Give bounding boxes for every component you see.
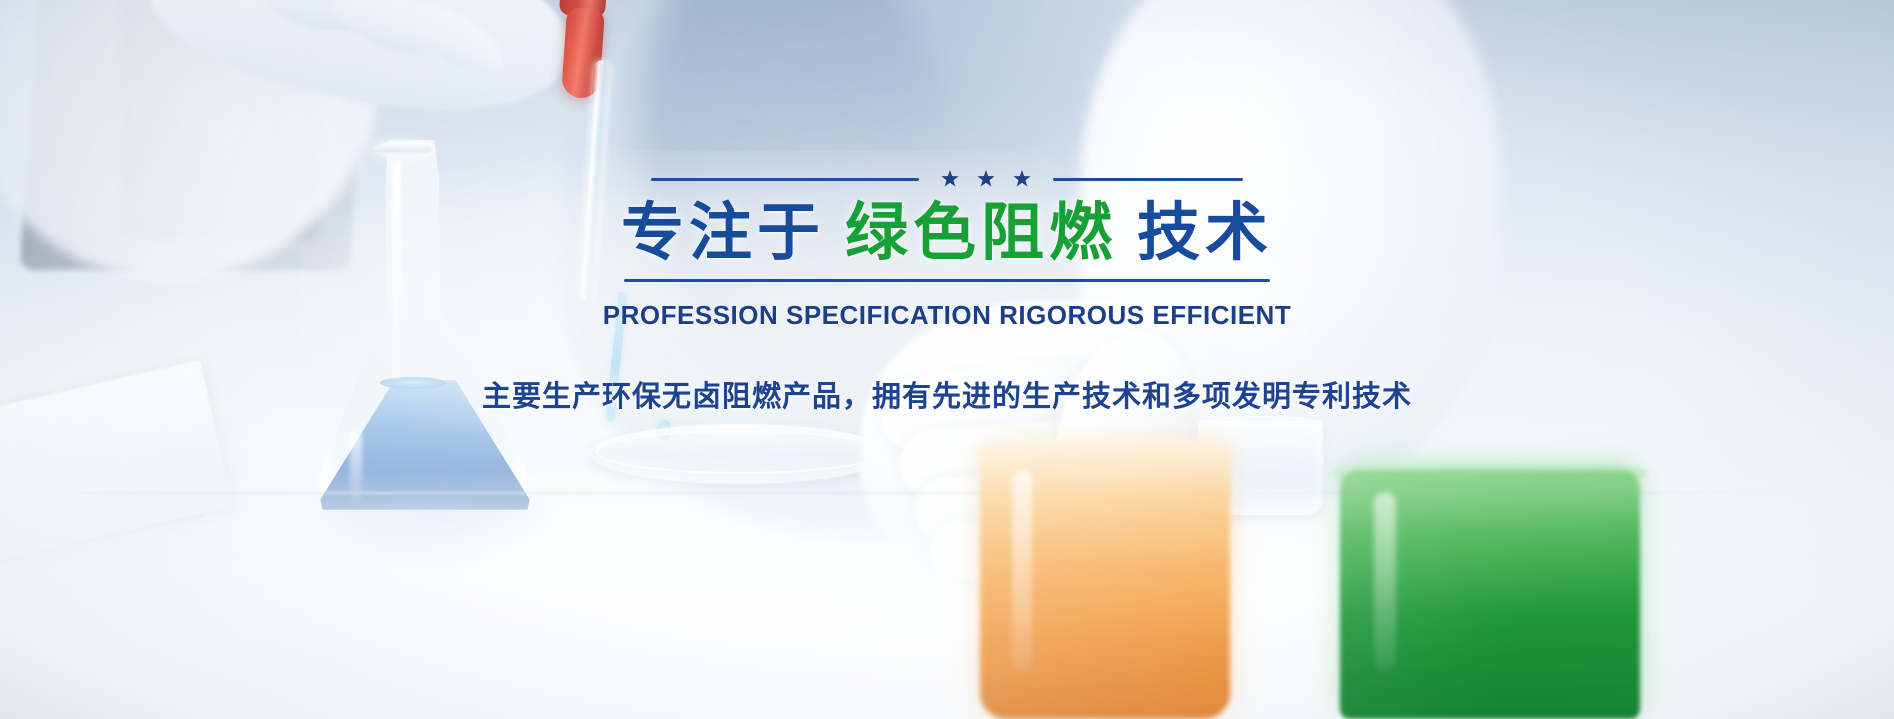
top-rule-with-stars: [624, 168, 1270, 190]
star-group: [919, 170, 1053, 188]
promo-banner: 专注于绿色阻燃技术 PROFESSION SPECIFICATION RIGOR…: [0, 0, 1894, 719]
star-icon: [1013, 170, 1031, 188]
headline-part-1: 专注于: [621, 196, 825, 269]
subtitle-english: PROFESSION SPECIFICATION RIGOROUS EFFICI…: [603, 300, 1291, 331]
page-title: 专注于绿色阻燃技术: [621, 198, 1273, 269]
star-icon: [941, 170, 959, 188]
rule-under-headline: [624, 279, 1270, 282]
headline-part-3: 技术: [1137, 196, 1273, 269]
banner-content: 专注于绿色阻燃技术 PROFESSION SPECIFICATION RIGOR…: [0, 0, 1894, 719]
star-icon: [977, 170, 995, 188]
rule-left: [651, 178, 919, 181]
headline-part-2: 绿色阻燃: [845, 196, 1117, 269]
rule-right: [1053, 178, 1243, 181]
tagline-chinese: 主要生产环保无卤阻燃产品，拥有先进的生产技术和多项发明专利技术: [482, 373, 1412, 415]
